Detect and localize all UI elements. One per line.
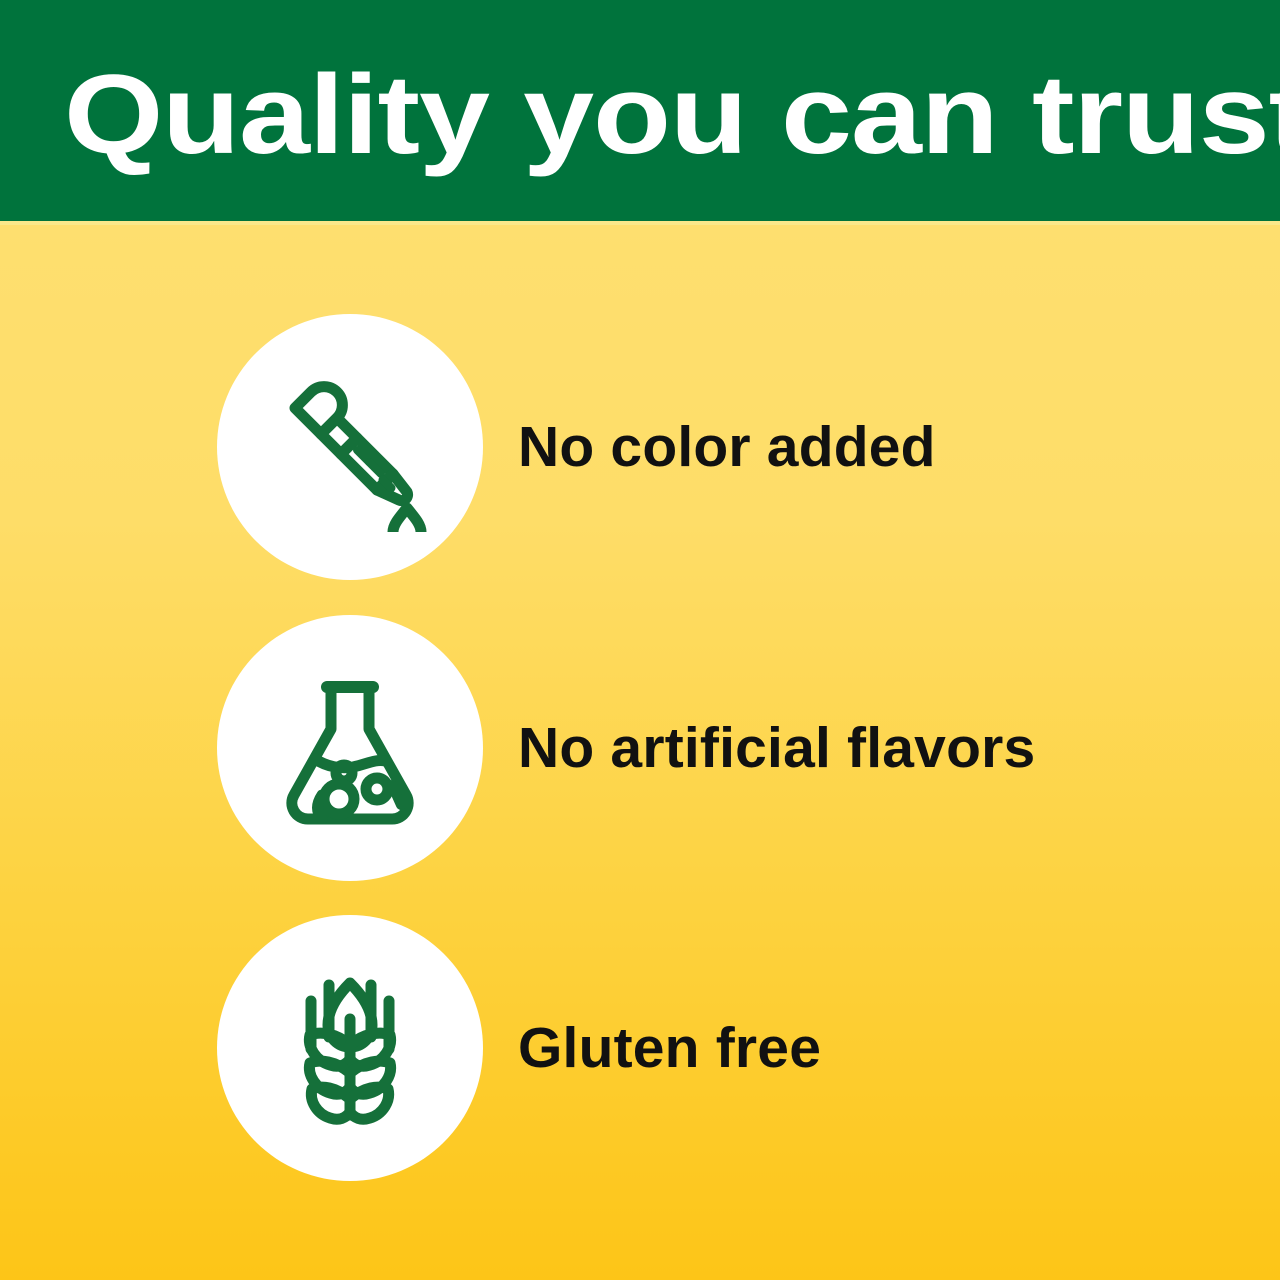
feature-row: No color added [0,314,1280,580]
page-title: Quality you can trust [64,50,1280,180]
dropper-icon [265,362,435,532]
quality-claims-poster: Quality you can trust [0,0,1280,1280]
icon-badge [217,615,483,881]
feature-label: No artificial flavors [518,615,1035,881]
feature-label: Gluten free [518,915,821,1181]
wheat-icon [265,963,435,1133]
feature-row: Gluten free [0,915,1280,1181]
icon-badge [217,314,483,580]
header-band: Quality you can trust [0,0,1280,221]
icon-badge [217,915,483,1181]
flask-icon [265,663,435,833]
feature-row: No artificial flavors [0,615,1280,881]
feature-label: No color added [518,314,936,580]
